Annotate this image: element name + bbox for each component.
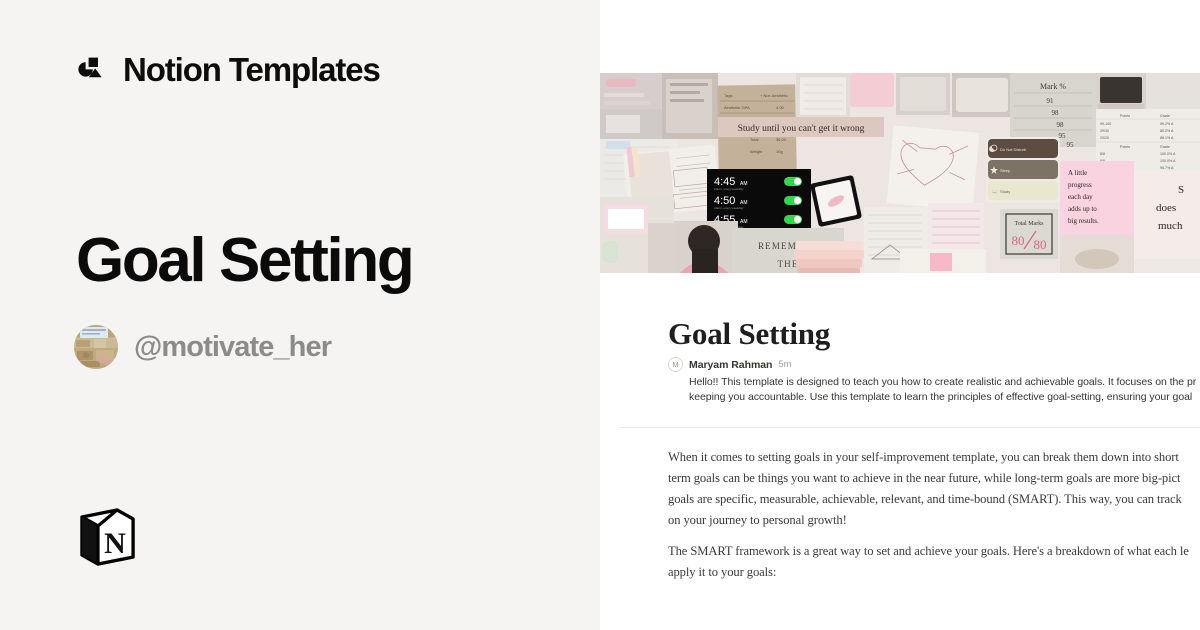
svg-text:99.2% A: 99.2% A: [1160, 122, 1174, 126]
comment-line-1: Hello!! This template is designed to tea…: [689, 375, 1200, 390]
svg-text:80.2% A: 80.2% A: [1160, 129, 1174, 133]
paragraph-1-line-1: When it comes to setting goals in your s…: [668, 447, 1200, 468]
left-info-panel: Notion Templates Goal Setting: [0, 0, 600, 630]
svg-text:Grade: Grade: [1160, 145, 1170, 149]
svg-text:80: 80: [1034, 237, 1047, 252]
svg-text:Alarm, every weekday: Alarm, every weekday: [714, 187, 744, 191]
paragraph-2-line-2: apply it to your goals:: [668, 562, 1200, 583]
paragraph-1-line-2: term goals can be things you want to ach…: [668, 468, 1200, 489]
cover-image: Tags+ Non Aesthetic Aesthetic GPA4.00 To…: [600, 73, 1200, 273]
svg-text:95.7% A: 95.7% A: [1160, 166, 1174, 170]
svg-text:36.00: 36.00: [776, 137, 787, 142]
svg-text:99-100: 99-100: [1100, 122, 1111, 126]
brand-name: Notion Templates: [123, 53, 380, 86]
paragraph-2: The SMART framework is a great way to se…: [668, 541, 1200, 583]
svg-text:Points: Points: [1120, 114, 1130, 118]
svg-text:10g: 10g: [776, 149, 783, 154]
svg-text:100.0% A: 100.0% A: [1160, 152, 1176, 156]
svg-text:Study: Study: [1000, 189, 1010, 194]
svg-text:Weight: Weight: [750, 149, 763, 154]
svg-text:does: does: [1156, 202, 1176, 214]
author-handle: @motivate_her: [134, 333, 331, 362]
paragraph-1-line-3: goals are specific, measurable, achievab…: [668, 489, 1200, 510]
comment-author: Maryam Rahman: [689, 359, 772, 371]
svg-text:much: much: [1158, 220, 1183, 232]
svg-text:Sleep: Sleep: [1000, 168, 1011, 173]
svg-text:📖: 📖: [992, 189, 997, 194]
svg-text:Total Marks: Total Marks: [1014, 221, 1044, 227]
notion-cube-logo-icon: N: [78, 505, 136, 567]
paragraph-1: When it comes to setting goals in your s…: [668, 447, 1200, 531]
svg-text:98: 98: [1057, 121, 1065, 129]
svg-text:20/20: 20/20: [1100, 136, 1109, 140]
svg-text:Do Not Disturb: Do Not Disturb: [1000, 147, 1027, 152]
svg-text:88.1% A: 88.1% A: [1160, 136, 1174, 140]
svg-text:Tags: Tags: [724, 93, 732, 98]
svg-text:98: 98: [1052, 109, 1060, 117]
svg-text:Alarm, every weekday: Alarm, every weekday: [714, 206, 744, 210]
avatar: [74, 325, 118, 369]
svg-text:Aesthetic GPA: Aesthetic GPA: [724, 105, 750, 110]
svg-text:N: N: [104, 527, 126, 560]
comment-timestamp: 5m: [778, 359, 791, 370]
svg-text:+ Non Aesthetic: + Non Aesthetic: [760, 93, 788, 98]
svg-text:THE: THE: [777, 259, 798, 269]
content-divider: [620, 427, 1200, 428]
svg-text:Study until you can't get it w: Study until you can't get it wrong: [738, 124, 865, 134]
svg-text:S: S: [1178, 184, 1184, 196]
page-title: Goal Setting: [76, 228, 412, 293]
svg-text:big results.: big results.: [1068, 217, 1099, 225]
svg-text:4.00: 4.00: [776, 105, 785, 110]
author-row[interactable]: @motivate_her: [74, 325, 331, 369]
svg-text:100.0% A: 100.0% A: [1160, 159, 1176, 163]
comment-header: M Maryam Rahman 5m: [668, 357, 1200, 372]
svg-text:adds up to: adds up to: [1068, 205, 1097, 213]
svg-text:91: 91: [1047, 97, 1055, 105]
document-comment[interactable]: M Maryam Rahman 5m Hello!! This template…: [668, 357, 1200, 405]
svg-text:29/30: 29/30: [1100, 129, 1109, 133]
svg-text:95: 95: [1067, 141, 1075, 149]
svg-text:Grade: Grade: [1160, 114, 1170, 118]
comment-text: Hello!! This template is designed to tea…: [689, 375, 1200, 405]
svg-text:Total: Total: [750, 137, 759, 142]
brand-header: Notion Templates: [76, 52, 380, 86]
comment-avatar: M: [668, 357, 683, 372]
svg-text:Points: Points: [1120, 145, 1130, 149]
svg-text:8/8: 8/8: [1100, 152, 1105, 156]
comment-line-2: keeping you accountable. Use this templa…: [689, 390, 1200, 405]
paragraph-2-line-1: The SMART framework is a great way to se…: [668, 541, 1200, 562]
template-preview-panel: Tags+ Non Aesthetic Aesthetic GPA4.00 To…: [600, 0, 1200, 630]
svg-text:progress: progress: [1068, 181, 1092, 189]
svg-text:each day: each day: [1068, 193, 1093, 201]
svg-text:Mark %: Mark %: [1040, 82, 1066, 91]
notion-templates-mark-icon: [76, 52, 110, 86]
share-card: Notion Templates Goal Setting: [0, 0, 1200, 630]
paragraph-1-line-4: on your journey to personal growth!: [668, 510, 1200, 531]
svg-text:95: 95: [1059, 132, 1067, 140]
svg-text:80: 80: [1012, 233, 1025, 248]
svg-text:A little: A little: [1068, 169, 1087, 177]
document-title: Goal Setting: [668, 318, 830, 349]
